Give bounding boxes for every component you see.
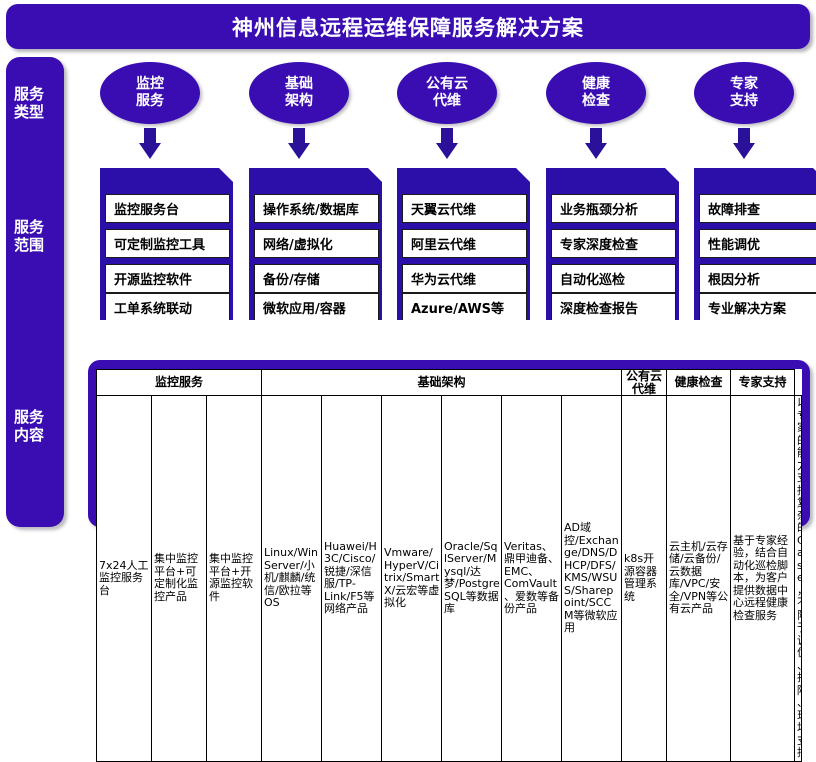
scope-item-label: 天翼云代维 <box>403 199 476 218</box>
scope-item-label: 根因分析 <box>700 269 760 288</box>
scope-item[interactable]: 网络/虚拟化 <box>254 229 379 258</box>
category-label-line2: 检查 <box>582 93 610 110</box>
scope-item-label: 业务瓶颈分析 <box>552 199 638 218</box>
category-label-line1: 健康 <box>582 76 610 93</box>
table-body-row: 7x24人工监控服务台集中监控平台+可定制化监控产品集中监控平台+开源监控软件L… <box>97 396 802 762</box>
table-cell: Vmware/HyperV/Citrix/SmartX/云宏等虚拟化 <box>382 396 442 762</box>
category-ellipse-4[interactable]: 健康检查 <box>546 62 646 124</box>
down-arrow-icon-2 <box>288 128 310 160</box>
scope-item-label: 可定制监控工具 <box>106 234 205 253</box>
table-group-header: 基础架构 <box>262 370 622 396</box>
scope-card-5: 故障排查性能调优根因分析专业解决方案 <box>694 168 816 320</box>
rail-label-service-scope-line1: 服务 <box>0 218 58 236</box>
down-arrow-icon-5 <box>733 128 755 160</box>
table-cell: 基于专家经验，结合自动化巡检脚本，为客户提供数据中心远程健康检查服务 <box>731 396 795 762</box>
scope-item[interactable]: 专家深度检查 <box>551 229 676 258</box>
table-group-header: 健康检查 <box>667 370 731 396</box>
scope-item[interactable]: 备份/存储 <box>254 264 379 293</box>
table-group-header: 监控服务 <box>97 370 262 396</box>
category-ellipse-label-1: 监控服务 <box>136 76 164 110</box>
category-label-line2: 服务 <box>136 93 164 110</box>
rail-label-service-type: 服务 类型 <box>0 85 58 121</box>
table-cell: 集中监控平台+可定制化监控产品 <box>152 396 207 762</box>
scope-item[interactable]: 深度检查报告 <box>551 293 676 322</box>
category-ellipse-label-3: 公有云代维 <box>426 76 468 110</box>
diagram-canvas: 神州信息远程运维保障服务解决方案 服务 类型 服务 范围 服务 内容 监控服务监… <box>0 0 816 533</box>
scope-item[interactable]: 性能调优 <box>699 229 816 258</box>
table-cell: Veritas、鼎甲迪备、EMC、ComVault、爱数等备份产品 <box>502 396 562 762</box>
scope-item[interactable]: 工单系统联动 <box>105 293 230 322</box>
table-header-row: 监控服务基础架构公有云代维健康检查专家支持 <box>97 370 802 396</box>
down-arrow-icon-3 <box>436 128 458 160</box>
category-label-line1: 监控 <box>136 76 164 93</box>
service-content-table: 监控服务基础架构公有云代维健康检查专家支持 7x24人工监控服务台集中监控平台+… <box>96 369 802 762</box>
rail-label-service-content: 服务 内容 <box>0 408 58 444</box>
scope-item-label: 深度检查报告 <box>552 298 638 317</box>
scope-item[interactable]: 阿里云代维 <box>402 229 527 258</box>
scope-item-label: 开源监控软件 <box>106 269 192 288</box>
rail-label-service-type-line2: 类型 <box>0 103 58 121</box>
scope-card-3: 天翼云代维阿里云代维华为云代维Azure/AWS等 <box>397 168 530 320</box>
scope-item[interactable]: 天翼云代维 <box>402 194 527 223</box>
scope-item-label: 微软应用/容器 <box>255 298 346 317</box>
scope-item[interactable]: 专业解决方案 <box>699 293 816 322</box>
rail-label-service-type-line1: 服务 <box>0 85 58 103</box>
rail-label-service-scope: 服务 范围 <box>0 218 58 254</box>
service-content-panel: 监控服务基础架构公有云代维健康检查专家支持 7x24人工监控服务台集中监控平台+… <box>88 360 810 527</box>
scope-item-label: 网络/虚拟化 <box>255 234 333 253</box>
scope-item[interactable]: 操作系统/数据库 <box>254 194 379 223</box>
scope-card-4: 业务瓶颈分析专家深度检查自动化巡检深度检查报告 <box>546 168 679 320</box>
scope-item[interactable]: 根因分析 <box>699 264 816 293</box>
table-cell: AD域控/Exchange/DNS/DHCP/DFS/KMS/WSUS/Shar… <box>562 396 622 762</box>
table-cell: 集中监控平台+开源监控软件 <box>207 396 262 762</box>
table-cell: Oracle/SqlServer/Mysql/达梦/PostgreSQL等数据库 <box>442 396 502 762</box>
row-label-rail <box>6 57 64 527</box>
scope-item[interactable]: 监控服务台 <box>105 194 230 223</box>
down-arrow-icon-4 <box>585 128 607 160</box>
table-cell: 云主机/云存储/云备份/云数据库/VPC/安全/VPN等公有云产品 <box>667 396 731 762</box>
scope-item[interactable]: 微软应用/容器 <box>254 293 379 322</box>
category-label-line2: 代维 <box>426 93 468 110</box>
category-ellipse-5[interactable]: 专家支持 <box>694 62 794 124</box>
scope-item-label: 自动化巡检 <box>552 269 625 288</box>
table-group-header: 专家支持 <box>731 370 795 396</box>
scope-item-label: 备份/存储 <box>255 269 320 288</box>
scope-item-label: 阿里云代维 <box>403 234 476 253</box>
scope-item-label: 专家深度检查 <box>552 234 638 253</box>
scope-item-label: 操作系统/数据库 <box>255 199 359 218</box>
scope-item[interactable]: 故障排查 <box>699 194 816 223</box>
scope-item[interactable]: 开源监控软件 <box>105 264 230 293</box>
scope-item-label: 华为云代维 <box>403 269 476 288</box>
table-cell: 以专家的能力支持复杂的Case，不限于调优、排障、现场支持 <box>795 396 802 762</box>
category-label-line2: 支持 <box>730 93 758 110</box>
scope-item[interactable]: 华为云代维 <box>402 264 527 293</box>
scope-item-label: 故障排查 <box>700 199 760 218</box>
table-cell: Huawei/H3C/Cisco/锐捷/深信服/TP-Link/F5等网络产品 <box>322 396 382 762</box>
table-cell: 7x24人工监控服务台 <box>97 396 152 762</box>
category-label-line2: 架构 <box>285 93 313 110</box>
rail-label-service-scope-line2: 范围 <box>0 236 58 254</box>
scope-card-1: 监控服务台可定制监控工具开源监控软件工单系统联动 <box>100 168 233 320</box>
category-ellipse-3[interactable]: 公有云代维 <box>397 62 497 124</box>
rail-label-service-content-line2: 内容 <box>0 426 58 444</box>
category-ellipse-label-5: 专家支持 <box>730 76 758 110</box>
scope-item-label: 专业解决方案 <box>700 298 786 317</box>
scope-card-2: 操作系统/数据库网络/虚拟化备份/存储微软应用/容器 <box>249 168 382 320</box>
rail-label-service-content-line1: 服务 <box>0 408 58 426</box>
table-group-header: 公有云代维 <box>622 370 667 396</box>
scope-item-label: Azure/AWS等 <box>403 298 504 317</box>
down-arrow-icon-1 <box>139 128 161 160</box>
table-cell: k8s开源容器管理系统 <box>622 396 667 762</box>
category-label-line1: 公有云 <box>426 76 468 93</box>
table-cell: Linux/Win Server/小机/麒麟/统信/欧拉等OS <box>262 396 322 762</box>
scope-item[interactable]: 自动化巡检 <box>551 264 676 293</box>
category-label-line1: 专家 <box>730 76 758 93</box>
scope-item-label: 工单系统联动 <box>106 298 192 317</box>
scope-item[interactable]: Azure/AWS等 <box>402 293 527 322</box>
scope-item[interactable]: 可定制监控工具 <box>105 229 230 258</box>
scope-item[interactable]: 业务瓶颈分析 <box>551 194 676 223</box>
scope-item-label: 性能调优 <box>700 234 760 253</box>
page-title: 神州信息远程运维保障服务解决方案 <box>232 12 584 42</box>
category-ellipse-label-4: 健康检查 <box>582 76 610 110</box>
category-ellipse-1[interactable]: 监控服务 <box>100 62 200 124</box>
scope-item-label: 监控服务台 <box>106 199 179 218</box>
category-ellipse-label-2: 基础架构 <box>285 76 313 110</box>
page-title-banner: 神州信息远程运维保障服务解决方案 <box>6 4 810 49</box>
category-ellipse-2[interactable]: 基础架构 <box>249 62 349 124</box>
category-label-line1: 基础 <box>285 76 313 93</box>
